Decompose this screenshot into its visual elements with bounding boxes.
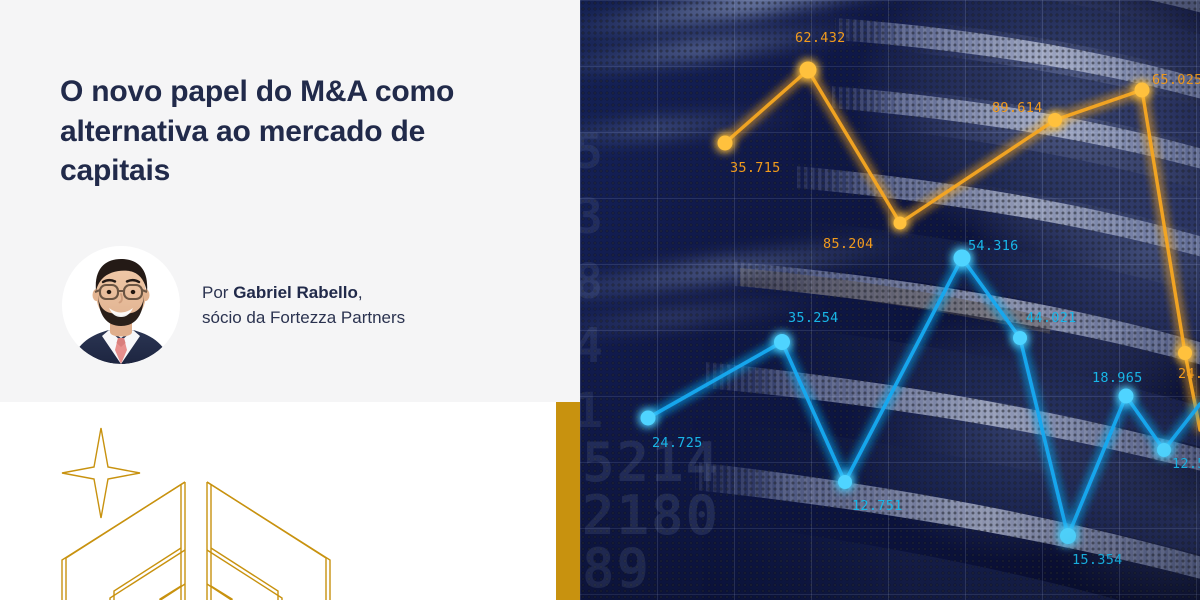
data-label: 89.614 xyxy=(992,100,1043,116)
avatar xyxy=(62,246,180,364)
data-label: 35.254 xyxy=(788,310,839,326)
series-cyan xyxy=(641,250,1200,545)
byline-role: sócio da Fortezza Partners xyxy=(202,308,405,327)
page-title: O novo papel do M&A como alternativa ao … xyxy=(60,72,540,191)
fortezza-logo-mark xyxy=(40,420,340,600)
hero-image-panel: 5 3 8 4 1 5214 2180 89 xyxy=(580,0,1200,600)
article-banner: O novo papel do M&A como alternativa ao … xyxy=(0,0,1200,600)
data-label: 15.354 xyxy=(1072,552,1123,568)
byline-text: Por Gabriel Rabello, sócio da Fortezza P… xyxy=(202,280,405,331)
byline: Por Gabriel Rabello, sócio da Fortezza P… xyxy=(62,246,405,364)
byline-prefix: Por xyxy=(202,283,233,302)
cyan-data-labels: 24.725 35.254 12.751 54.316 44.021 15.35… xyxy=(652,238,1200,568)
data-label: 85.204 xyxy=(823,236,874,252)
data-label: 18.965 xyxy=(1092,370,1143,386)
gold-accent-bar xyxy=(556,402,580,600)
data-label: 54.316 xyxy=(968,238,1019,254)
data-label: 35.715 xyxy=(730,160,781,176)
left-content-column: O novo papel do M&A como alternativa ao … xyxy=(0,0,580,600)
data-label: 12.751 xyxy=(852,498,903,514)
data-label: 65.025 xyxy=(1152,72,1200,88)
data-label: 44.021 xyxy=(1026,310,1077,326)
data-label: 24.725 xyxy=(652,435,703,451)
data-label: 62.432 xyxy=(795,30,846,46)
data-label: 12.54 xyxy=(1172,456,1200,472)
orange-data-labels: 35.715 62.432 85.204 89.614 65.025 24. xyxy=(730,30,1200,382)
byline-comma: , xyxy=(358,283,363,302)
data-label: 24. xyxy=(1178,366,1200,382)
author-name: Gabriel Rabello xyxy=(233,283,358,302)
chart-overlay: 35.715 62.432 85.204 89.614 65.025 24. 2… xyxy=(580,0,1200,600)
